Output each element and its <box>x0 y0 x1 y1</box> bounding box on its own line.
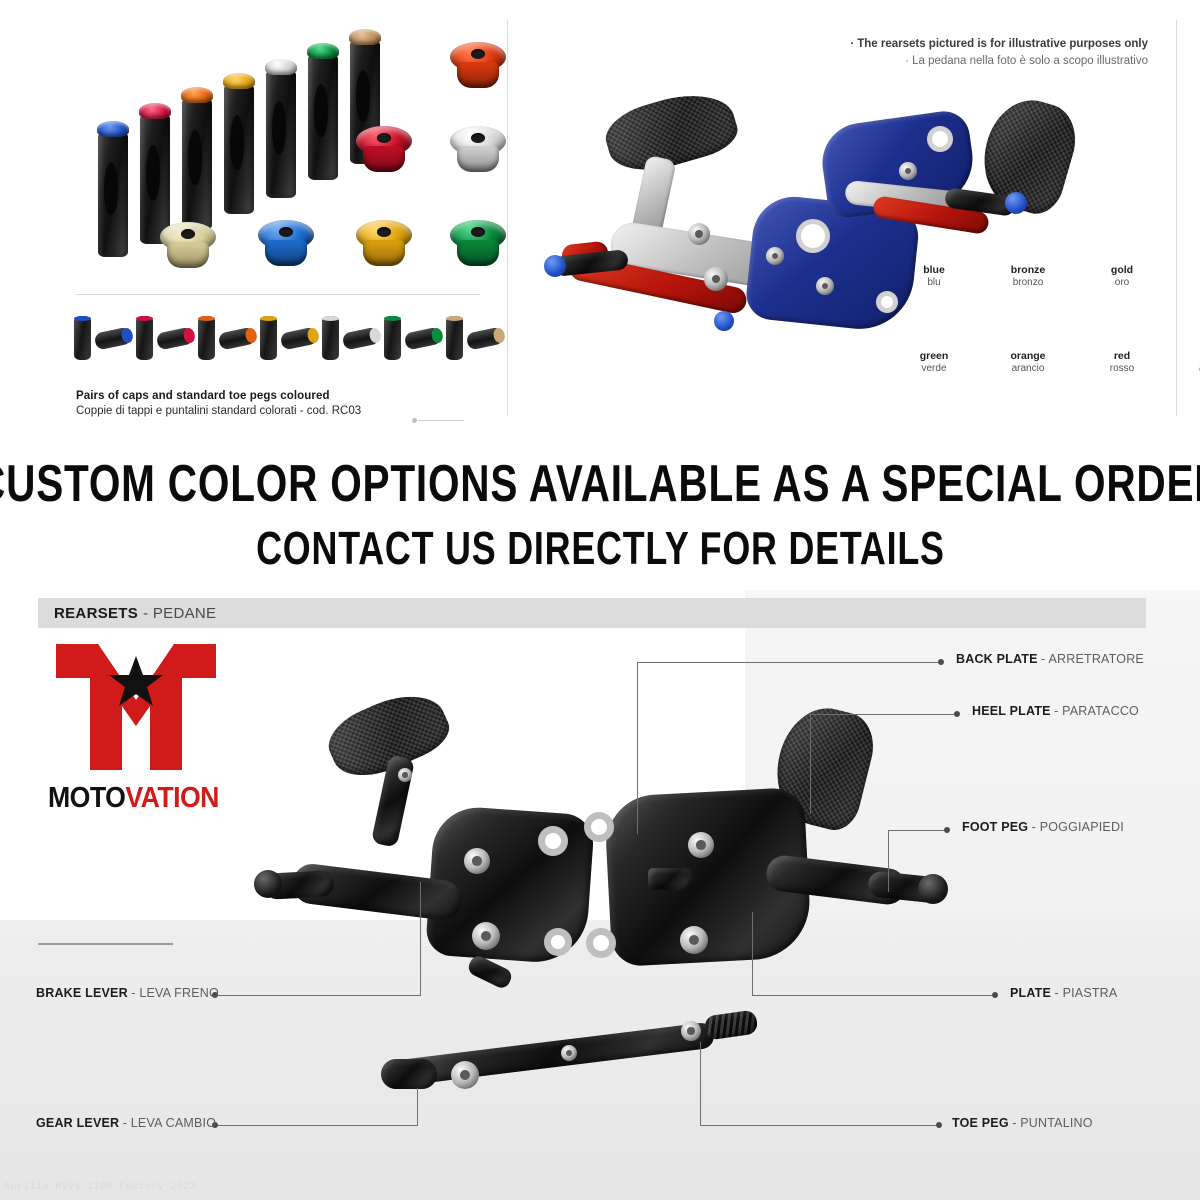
swatch-gold: gold oro <box>1080 258 1164 288</box>
toe-peg-cap <box>265 59 297 75</box>
toe-peg <box>266 70 296 198</box>
color-cap-disc <box>160 222 216 272</box>
mounting-hole <box>586 928 616 958</box>
swatch-label-it: blu <box>892 277 976 288</box>
color-cap-disc <box>450 42 506 92</box>
foot-peg-end <box>918 874 948 904</box>
color-cap-disc <box>356 220 412 270</box>
lever-eye <box>381 1059 437 1089</box>
panel-rule <box>76 294 480 295</box>
callout-label-en: GEAR LEVER <box>36 1116 119 1130</box>
callout-brake-lever: BRAKE LEVER - LEVA FRENO <box>36 986 219 1000</box>
illustrative-note-en: · The rearsets pictured is for illustrat… <box>850 36 1148 53</box>
toe-peg-pairs-row <box>74 314 486 370</box>
left-decorative-rule <box>38 943 173 945</box>
toe-peg-cap <box>349 29 381 45</box>
callout-label-it: - POGGIAPIEDI <box>1032 820 1124 834</box>
callout-label-en: TOE PEG <box>952 1116 1009 1130</box>
blue-toe-peg-end <box>544 255 566 277</box>
top-product-section: Pairs of caps and standard toe pegs colo… <box>0 0 1200 440</box>
product-marketing-page: Pairs of caps and standard toe pegs colo… <box>0 0 1200 1200</box>
callout-label-en: HEEL PLATE <box>972 704 1051 718</box>
callout-label-it: - PIASTRA <box>1055 986 1118 1000</box>
toe-peg <box>182 98 212 230</box>
swatch-blue: blue blu <box>892 258 976 288</box>
lever-rod-bolt <box>681 1021 701 1041</box>
swatch-silver: silver argento <box>1174 344 1200 374</box>
top-panel-divider <box>507 20 508 416</box>
section-title-en: REARSETS <box>54 605 138 622</box>
callout-toe-peg: TOE PEG - PUNTALINO <box>952 1116 1093 1130</box>
caption-leader-dot <box>412 418 417 423</box>
toe-peg-pair <box>74 314 128 364</box>
swatch-label-en: gold <box>1080 264 1164 276</box>
mounting-hole <box>538 826 568 856</box>
color-cap-disc <box>450 220 506 270</box>
callout-foot-peg: FOOT PEG - POGGIAPIEDI <box>962 820 1124 834</box>
swatch-label-it: verde <box>892 363 976 374</box>
callout-label-en: BRAKE LEVER <box>36 986 128 1000</box>
toe-peg-stack <box>70 32 370 292</box>
toe-peg-pair <box>260 314 314 364</box>
swatch-red: red rosso <box>1080 344 1164 374</box>
caption-leader-line <box>418 420 464 421</box>
color-swatch-grid: blue blu bronze bronzo gold oro green ve… <box>892 258 1172 418</box>
illustrative-note: · The rearsets pictured is for illustrat… <box>850 36 1148 71</box>
section-title-it: - PEDANE <box>143 605 216 622</box>
caps-and-toe-pegs-panel: Pairs of caps and standard toe pegs colo… <box>60 22 500 412</box>
swatch-bronze: bronze bronzo <box>986 258 1070 288</box>
swatch-label-it: arancio <box>986 363 1070 374</box>
swatch-label-en: orange <box>986 350 1070 362</box>
lever-bolt <box>561 1045 577 1061</box>
callout-label-it: - LEVA CAMBIO <box>123 1116 216 1130</box>
callout-label-it: - PARATACCO <box>1054 704 1139 718</box>
toe-peg-pair <box>136 314 190 364</box>
callout-label-it: - ARRETRATORE <box>1041 652 1144 666</box>
callout-plate: PLATE - PIASTRA <box>1010 986 1117 1000</box>
gear-lever-part <box>375 1015 765 1105</box>
toe-peg <box>98 132 128 257</box>
rearsets-diagram-section: REARSETS - PEDANE MOTOVATION <box>0 590 1200 1200</box>
adjuster-bolt <box>398 768 412 782</box>
swatch-label-en: blue <box>892 264 976 276</box>
caps-caption-en: Pairs of caps and standard toe pegs colo… <box>76 390 456 402</box>
lever-pivot-bolt <box>451 1061 479 1089</box>
toe-peg <box>308 54 338 180</box>
logo-wordmark: MOTOVATION <box>48 782 219 815</box>
lever-body <box>395 1022 716 1087</box>
headline-line-1: CUSTOM COLOR OPTIONS AVAILABLE AS A SPEC… <box>0 457 1200 512</box>
headline-band: CUSTOM COLOR OPTIONS AVAILABLE AS A SPEC… <box>0 440 1200 590</box>
callout-gear-lever: GEAR LEVER - LEVA CAMBIO <box>36 1116 216 1130</box>
swatch-label-en: silver <box>1174 350 1200 362</box>
pivot-bolt <box>688 832 714 858</box>
callout-label-en: FOOT PEG <box>962 820 1028 834</box>
pivot-bolt <box>680 926 708 954</box>
mounting-hole <box>584 812 614 842</box>
toe-peg-cap <box>307 43 339 59</box>
pivot-bolt <box>704 267 728 291</box>
toe-peg-cap <box>97 121 129 137</box>
logo-word-moto: MOTO <box>48 782 125 814</box>
caps-caption: Pairs of caps and standard toe pegs colo… <box>76 390 456 417</box>
swatch-label-en: red <box>1080 350 1164 362</box>
logo-word-vation: VATION <box>125 782 219 814</box>
toe-peg-pair <box>198 314 252 364</box>
callout-label-it: - PUNTALINO <box>1012 1116 1092 1130</box>
foot-peg-end <box>254 870 282 898</box>
swatch-orange: orange arancio <box>986 344 1070 374</box>
pivot-bolt <box>472 922 500 950</box>
callout-label-it: - LEVA FRENO <box>131 986 219 1000</box>
pivot-bolt <box>766 247 784 265</box>
motovation-logo: MOTOVATION <box>42 642 232 827</box>
right-rearset-assembly <box>570 690 990 1010</box>
color-cap-disc <box>450 126 506 176</box>
toe-peg-pair <box>322 314 376 364</box>
blue-toe-peg-end <box>714 311 734 331</box>
headline-line-2: CONTACT US DIRECTLY FOR DETAILS <box>256 524 945 573</box>
swatch-label-en: bronze <box>986 264 1070 276</box>
section-header-bar: REARSETS - PEDANE <box>38 598 1146 628</box>
color-cap-disc <box>258 220 314 270</box>
illustrative-note-it: · La pedana nella foto è solo a scopo il… <box>850 53 1148 70</box>
toe-peg-pair <box>446 314 500 364</box>
blue-toe-peg-end <box>1005 192 1027 214</box>
pivot-bolt <box>688 223 710 245</box>
swatch-label-en: green <box>892 350 976 362</box>
toe-peg-cap <box>139 103 171 119</box>
color-cap-disc <box>356 126 412 176</box>
swatch-green: green verde <box>892 344 976 374</box>
toe-peg-pair <box>384 314 438 364</box>
toe-peg-threaded-end <box>704 1009 759 1040</box>
swatch-label-it: rosso <box>1080 363 1164 374</box>
callout-label-en: BACK PLATE <box>956 652 1038 666</box>
swatch-label-it: argento <box>1174 363 1200 374</box>
watermark-text: Aprilia RSV4-1100-Factory 2023 <box>4 1182 196 1193</box>
callout-label-en: PLATE <box>1010 986 1051 1000</box>
caps-caption-it: Coppie di tappi e puntalini standard col… <box>76 405 456 417</box>
motovation-m-icon <box>52 642 220 777</box>
toe-peg <box>224 84 254 214</box>
toe-peg-cap <box>181 87 213 103</box>
centre-block <box>648 868 692 890</box>
callout-heel-plate: HEEL PLATE - PARATACCO <box>972 704 1139 718</box>
pivot-bolt <box>899 162 917 180</box>
swatch-label-it: bronzo <box>986 277 1070 288</box>
pivot-bolt <box>464 848 490 874</box>
mounting-hole <box>544 928 572 956</box>
callout-back-plate: BACK PLATE - ARRETRATORE <box>956 652 1144 666</box>
toe-peg-cap <box>223 73 255 89</box>
mounting-hole <box>927 126 953 152</box>
swatch-label-it: oro <box>1080 277 1164 288</box>
